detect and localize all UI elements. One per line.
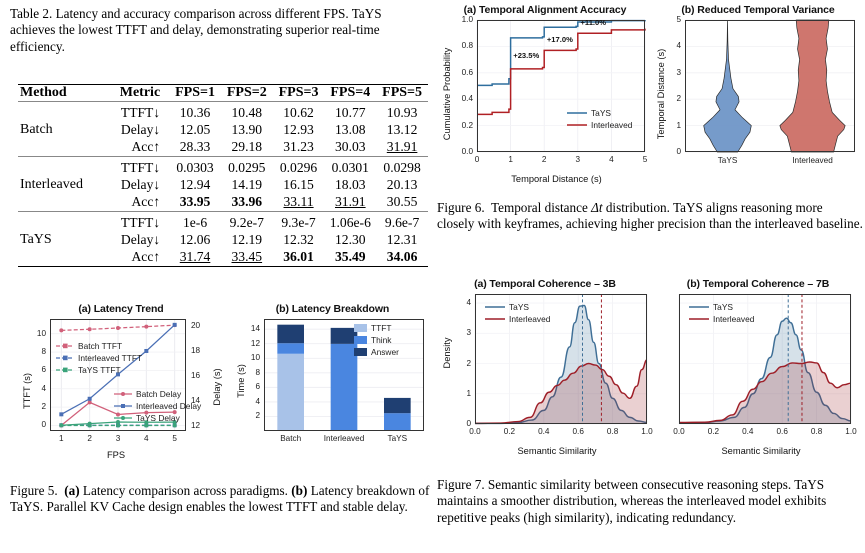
table-value-cell: 9.2e-7: [221, 211, 273, 231]
legend-swatch-ttft: [354, 324, 367, 332]
figure6a-ylabel: Cumulative Probability: [442, 29, 452, 159]
axis-tick-label: 4: [676, 41, 681, 50]
axis-tick-label: 0.6: [776, 427, 787, 436]
axis-tick-label: 5: [643, 155, 648, 164]
axis-tick-label: Interleaved: [792, 156, 833, 165]
legend-label: Interleaved: [509, 314, 550, 324]
table-value-cell: 10.62: [273, 102, 325, 122]
figure7b-xlabel: Semantic Similarity: [671, 446, 851, 456]
axis-tick-label: 20: [191, 321, 200, 330]
legend-swatch-answer: [354, 348, 367, 356]
figure7a-xlabel: Semantic Similarity: [467, 446, 647, 456]
table-metric-cell: Acc↑: [104, 194, 169, 212]
table-value-cell: 12.30: [324, 232, 376, 249]
axis-tick-label: 1: [508, 155, 513, 164]
figure5a-y2label: Delay (s): [212, 347, 222, 427]
table-value-cell: 9.6e-7: [376, 211, 428, 231]
figure5b-ylabel: Time (s): [236, 341, 246, 421]
table-value-cell: 10.36: [169, 102, 221, 122]
axis-tick-label: 0.2: [504, 427, 515, 436]
legend-label: TaYS: [713, 302, 733, 312]
table-header-cell: FPS=2: [221, 85, 273, 102]
axis-tick-label: TaYS: [388, 434, 408, 443]
figure6b-title: (b) Reduced Temporal Variance: [651, 4, 865, 16]
figure5a-ylabel: TTFT (s): [22, 351, 32, 431]
figure5a-legend-delay: Batch Delay Interleaved Delay TaYS Delay: [114, 389, 201, 425]
table-value-cell: 33.45: [221, 249, 273, 267]
figure6b-ylabel: Temporal Distance (s): [656, 29, 666, 159]
table-value-cell: 28.33: [169, 139, 221, 157]
legend-item: Answer: [354, 347, 399, 357]
figure6b-temporal-variance: (b) Reduced Temporal Variance Temporal D…: [651, 4, 865, 192]
table-value-cell: 33.11: [273, 194, 325, 212]
axis-tick-label: 2: [87, 434, 92, 443]
figure5b-latency-breakdown: (b) Latency Breakdown Time (s) 246810121…: [230, 303, 435, 463]
axis-tick-label: 8: [41, 347, 46, 356]
axis-tick-label: 12: [251, 339, 260, 348]
axis-tick-label: 0.2: [462, 121, 473, 130]
table-value-cell: 33.95: [169, 194, 221, 212]
table-value-cell: 36.01: [273, 249, 325, 267]
legend-label: Interleaved Delay: [136, 401, 201, 411]
axis-tick-label: 8: [255, 368, 260, 377]
figure7a-title: (a) Temporal Coherence – 3B: [437, 278, 653, 290]
table-method-cell: Batch: [18, 102, 104, 157]
left-column: Table 2. Latency and accuracy comparison…: [8, 0, 434, 553]
axis-tick-label: 3: [676, 68, 681, 77]
axis-tick-label: 0.4: [742, 427, 753, 436]
table-value-cell: 12.94: [169, 177, 221, 194]
axis-tick-label: 0.8: [607, 427, 618, 436]
axis-tick-label: 6: [255, 382, 260, 391]
axis-tick-label: 10: [37, 329, 46, 338]
axis-tick-label: 4: [41, 384, 46, 393]
figure5-caption: Figure 5. (a) Latency comparison across …: [10, 483, 432, 516]
chart-annotation: +11.0%: [580, 18, 606, 27]
table-value-cell: 12.32: [273, 232, 325, 249]
figure6a-temporal-alignment: (a) Temporal Alignment Accuracy Cumulati…: [437, 4, 653, 192]
table-value-cell: 30.55: [376, 194, 428, 212]
axis-tick-label: 0.4: [538, 427, 549, 436]
legend-item: Batch TTFT: [56, 341, 142, 351]
axis-tick-label: 1: [59, 434, 64, 443]
table-value-cell: 31.91: [376, 139, 428, 157]
legend-label: Interleaved TTFT: [78, 353, 142, 363]
table-header-row: MethodMetricFPS=1FPS=2FPS=3FPS=4FPS=5: [18, 85, 428, 102]
table-value-cell: 1.06e-6: [324, 211, 376, 231]
figure5a-xlabel: FPS: [51, 450, 181, 460]
table-value-cell: 12.93: [273, 122, 325, 139]
table-value-cell: 12.05: [169, 122, 221, 139]
legend-swatch-think: [354, 336, 367, 344]
table-value-cell: 34.06: [376, 249, 428, 267]
table-value-cell: 0.0303: [169, 156, 221, 176]
figure7a-legend: TaYS Interleaved: [485, 302, 550, 326]
axis-tick-label: 2: [41, 402, 46, 411]
legend-label: TaYS TTFT: [78, 365, 121, 375]
legend-item: TaYS: [485, 302, 550, 312]
legend-label: Think: [371, 335, 391, 345]
axis-tick-label: 0.8: [462, 41, 473, 50]
axis-tick-label: 10: [251, 353, 260, 362]
table-method-cell: Interleaved: [18, 156, 104, 211]
table-value-cell: 0.0301: [324, 156, 376, 176]
chart-annotation: +17.0%: [547, 35, 573, 44]
table-header-cell: FPS=3: [273, 85, 325, 102]
figure7b-coherence-7b: (b) Temporal Coherence – 7B Semantic Sim…: [651, 278, 865, 466]
axis-tick-label: 0: [676, 147, 681, 156]
table-metric-cell: Delay↓: [104, 177, 169, 194]
table-metric-cell: Acc↑: [104, 249, 169, 267]
legend-label: TaYS: [509, 302, 529, 312]
axis-tick-label: 2: [676, 94, 681, 103]
axis-tick-label: 0.6: [572, 427, 583, 436]
table-value-cell: 13.08: [324, 122, 376, 139]
table-value-cell: 9.3e-7: [273, 211, 325, 231]
table-value-cell: 14.19: [221, 177, 273, 194]
table-row: BatchTTFT↓10.3610.4810.6210.7710.93: [18, 102, 428, 122]
axis-tick-label: 14: [251, 324, 260, 333]
table-value-cell: 29.18: [221, 139, 273, 157]
axis-tick-label: TaYS: [718, 156, 738, 165]
table-header-cell: FPS=1: [169, 85, 221, 102]
legend-label: Interleaved: [591, 120, 632, 130]
table-value-cell: 31.91: [324, 194, 376, 212]
axis-tick-label: Interleaved: [324, 434, 365, 443]
axis-tick-label: 18: [191, 346, 200, 355]
table-header-cell: FPS=5: [376, 85, 428, 102]
axis-tick-label: 16: [191, 371, 200, 380]
chart-annotation: +23.5%: [513, 51, 539, 60]
axis-tick-label: 0.4: [462, 94, 473, 103]
table-metric-cell: Acc↑: [104, 139, 169, 157]
legend-label: Interleaved: [713, 314, 754, 324]
legend-label: Answer: [371, 347, 399, 357]
axis-tick-label: 2: [466, 359, 471, 368]
table-value-cell: 12.31: [376, 232, 428, 249]
axis-tick-label: 3: [466, 328, 471, 337]
figure5b-axes: [264, 319, 424, 431]
figure5a-latency-trend: (a) Latency Trend TTFT (s) Delay (s) FPS…: [16, 303, 226, 463]
table-value-cell: 16.15: [273, 177, 325, 194]
axis-tick-label: 0: [475, 155, 480, 164]
legend-item: Interleaved: [689, 314, 754, 324]
table-value-cell: 12.06: [169, 232, 221, 249]
legend-item: Interleaved Delay: [114, 401, 201, 411]
table2-caption: Table 2. Latency and accuracy comparison…: [10, 6, 430, 55]
table-header-cell: Method: [18, 85, 104, 102]
figure7a-coherence-3b: (a) Temporal Coherence – 3B Density Sema…: [437, 278, 653, 466]
figure5b-plot: 2468101214 BatchInterleavedTaYS: [264, 319, 424, 431]
legend-label: Batch TTFT: [78, 341, 122, 351]
figure5a-legend-ttft: Batch TTFT Interleaved TTFT TaYS TTFT: [56, 341, 142, 377]
legend-item: Think: [354, 335, 399, 345]
axis-tick-label: 2: [542, 155, 547, 164]
axis-tick-label: 4: [144, 434, 149, 443]
legend-item: Interleaved TTFT: [56, 353, 142, 363]
table-header-cell: FPS=4: [324, 85, 376, 102]
table-value-cell: 13.12: [376, 122, 428, 139]
legend-label: TTFT: [371, 323, 391, 333]
figure6a-plot: 0.00.20.40.60.81.0 012345 +23.5%+17.0%+1…: [477, 20, 645, 152]
figure6b-axes: [685, 20, 855, 152]
figure5b-title: (b) Latency Breakdown: [230, 303, 435, 315]
table-value-cell: 10.77: [324, 102, 376, 122]
axis-tick-label: 0.0: [673, 427, 684, 436]
table-metric-cell: Delay↓: [104, 232, 169, 249]
figure7-caption: Figure 7. Semantic similarity between co…: [437, 477, 863, 526]
table-value-cell: 12.19: [221, 232, 273, 249]
table-metric-cell: TTFT↓: [104, 102, 169, 122]
axis-tick-label: 4: [609, 155, 614, 164]
table-row: TaYSTTFT↓1e-69.2e-79.3e-71.06e-69.6e-7: [18, 211, 428, 231]
legend-item: Interleaved: [567, 120, 632, 130]
figure6a-xlabel: Temporal Distance (s): [469, 174, 644, 184]
table2: MethodMetricFPS=1FPS=2FPS=3FPS=4FPS=5Bat…: [18, 84, 428, 267]
axis-tick-label: 1.0: [462, 15, 473, 24]
table-value-cell: 10.93: [376, 102, 428, 122]
table-value-cell: 35.49: [324, 249, 376, 267]
table-row: InterleavedTTFT↓0.03030.02950.02960.0301…: [18, 156, 428, 176]
axis-tick-label: 6: [41, 365, 46, 374]
table-value-cell: 13.90: [221, 122, 273, 139]
table-value-cell: 0.0295: [221, 156, 273, 176]
figure6-caption: Figure 6. Temporal distance Δt distribut…: [437, 200, 863, 233]
axis-tick-label: 0.2: [708, 427, 719, 436]
right-column: (a) Temporal Alignment Accuracy Cumulati…: [437, 0, 863, 553]
axis-tick-label: 5: [676, 15, 681, 24]
axis-tick-label: 0.8: [811, 427, 822, 436]
legend-item: TaYS: [567, 108, 632, 118]
axis-tick-label: 3: [116, 434, 121, 443]
figure6a-legend: TaYS Interleaved: [567, 108, 632, 132]
axis-tick-label: 4: [255, 397, 260, 406]
table-value-cell: 0.0298: [376, 156, 428, 176]
table-value-cell: 18.03: [324, 177, 376, 194]
figure7b-legend: TaYS Interleaved: [689, 302, 754, 326]
axis-tick-label: 1.0: [845, 427, 856, 436]
table-header-cell: Metric: [104, 85, 169, 102]
figure5b-legend: TTFT Think Answer: [354, 323, 399, 359]
table-value-cell: 10.48: [221, 102, 273, 122]
table-value-cell: 31.74: [169, 249, 221, 267]
axis-tick-label: 0.6: [462, 68, 473, 77]
legend-label: TaYS Delay: [136, 413, 180, 423]
figure6b-plot: 012345 TaYSInterleaved: [685, 20, 855, 152]
table-value-cell: 33.96: [221, 194, 273, 212]
axis-tick-label: 0.0: [469, 427, 480, 436]
legend-item: TaYS: [689, 302, 754, 312]
legend-item: TaYS Delay: [114, 413, 201, 423]
table-metric-cell: TTFT↓: [104, 156, 169, 176]
axis-tick-label: 4: [466, 298, 471, 307]
axis-tick-label: Batch: [280, 434, 301, 443]
axis-tick-label: 1: [676, 121, 681, 130]
table-value-cell: 31.23: [273, 139, 325, 157]
table-metric-cell: TTFT↓: [104, 211, 169, 231]
table-metric-cell: Delay↓: [104, 122, 169, 139]
axis-tick-label: 3: [576, 155, 581, 164]
figure5a-title: (a) Latency Trend: [16, 303, 226, 315]
legend-label: Batch Delay: [136, 389, 181, 399]
table-value-cell: 1e-6: [169, 211, 221, 231]
figure7a-ylabel: Density: [442, 308, 452, 398]
legend-item: Batch Delay: [114, 389, 201, 399]
table-value-cell: 20.13: [376, 177, 428, 194]
figure5-caption-text: Figure 5. (a) Latency comparison across …: [10, 483, 429, 514]
legend-item: TaYS TTFT: [56, 365, 142, 375]
axis-tick-label: 2: [255, 411, 260, 420]
axis-tick-label: 1: [466, 389, 471, 398]
figure7b-title: (b) Temporal Coherence – 7B: [651, 278, 865, 290]
table-value-cell: 0.0296: [273, 156, 325, 176]
legend-label: TaYS: [591, 108, 611, 118]
paper-page: Table 2. Latency and accuracy comparison…: [0, 0, 865, 553]
legend-item: Interleaved: [485, 314, 550, 324]
legend-item: TTFT: [354, 323, 399, 333]
table-value-cell: 30.03: [324, 139, 376, 157]
axis-tick-label: 5: [172, 434, 177, 443]
axis-tick-label: 0.0: [462, 147, 473, 156]
table-method-cell: TaYS: [18, 211, 104, 266]
axis-tick-label: 0: [41, 420, 46, 429]
